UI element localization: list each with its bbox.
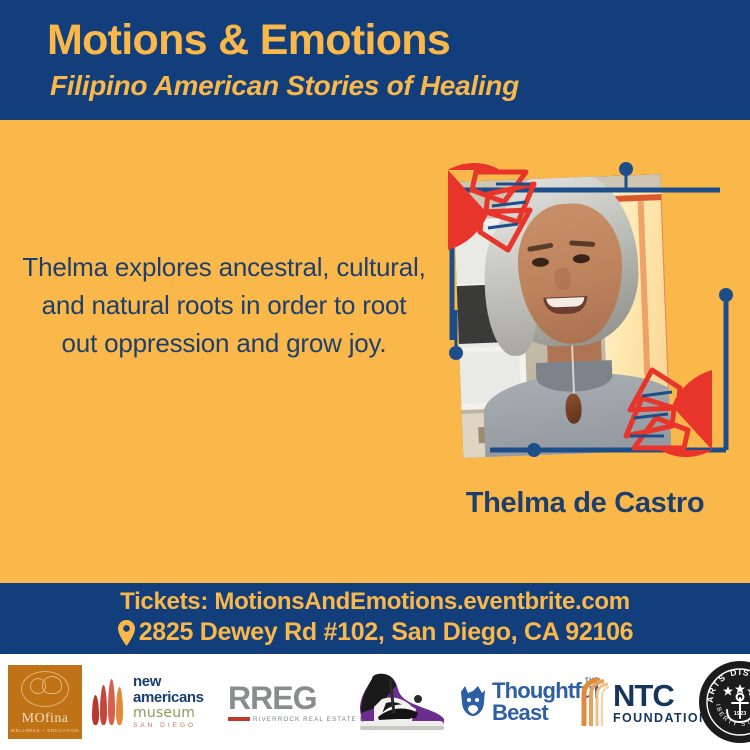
location-pin-icon xyxy=(117,620,136,646)
arts-district-seal-icon: ARTS DISTRICT LIBERTY STATION 1923 xyxy=(698,660,750,744)
speaker-blurb: Thelma explores ancestral, cultural, and… xyxy=(22,248,426,363)
portrait-block xyxy=(430,150,730,510)
ntc-subtext: FOUNDATION xyxy=(613,712,709,725)
sunburst-ornament-topleft xyxy=(448,163,534,250)
page-subtitle: Filipino American Stories of Healing xyxy=(50,70,519,102)
logo-thoughtful-beast[interactable]: THE Thoughtful Beast xyxy=(458,674,578,730)
ticket-band: Tickets: MotionsAndEmotions.eventbrite.c… xyxy=(0,583,750,654)
sunburst-ornament-bottomright xyxy=(626,370,712,457)
page-title: Motions & Emotions xyxy=(47,18,450,63)
speaker-name: Thelma de Castro xyxy=(440,486,730,521)
beast-icon xyxy=(458,686,488,718)
mofina-wordmark: MOfina xyxy=(22,711,69,727)
mofina-emblem-icon xyxy=(21,671,69,707)
tickets-link[interactable]: Tickets: MotionsAndEmotions.eventbrite.c… xyxy=(0,588,750,616)
poster: Motions & Emotions Filipino American Sto… xyxy=(0,0,750,750)
ntc-wordmark: NTC xyxy=(613,680,709,711)
photo-frame-decoration xyxy=(430,150,730,510)
logo-new-americans-museum[interactable]: new americans museum SAN DIEGO xyxy=(92,672,220,732)
nam-line2: americans xyxy=(133,690,204,705)
tb-line2: Beast xyxy=(492,700,548,725)
logo-mofina[interactable]: MOfina WELLNESS + EDUCATION xyxy=(8,665,82,739)
flames-icon xyxy=(92,679,128,725)
logo-arts-district-liberty-station[interactable]: ARTS DISTRICT LIBERTY STATION 1923 xyxy=(698,660,750,744)
rreg-bar-icon xyxy=(228,717,250,721)
sneaker-icon xyxy=(352,669,452,735)
ntc-arcs-icon xyxy=(580,678,610,726)
address-text: 2825 Dewey Rd #102, San Diego, CA 92106 xyxy=(139,618,634,647)
logo-sneaker[interactable] xyxy=(352,669,452,735)
nam-line4: SAN DIEGO xyxy=(133,723,204,730)
seal-year: 1923 xyxy=(734,711,746,717)
sponsor-logo-strip: MOfina WELLNESS + EDUCATION new american… xyxy=(0,654,750,750)
mofina-tagline: WELLNESS + EDUCATION xyxy=(11,728,79,733)
nam-line3: museum xyxy=(133,706,204,720)
logo-ntc-foundation[interactable]: NTC FOUNDATION xyxy=(580,674,696,730)
rreg-wordmark: RREG xyxy=(228,682,348,714)
header-band: Motions & Emotions Filipino American Sto… xyxy=(0,0,750,120)
nam-line1: new xyxy=(133,674,204,689)
venue-address: 2825 Dewey Rd #102, San Diego, CA 92106 xyxy=(0,618,750,647)
logo-rreg[interactable]: RREG RIVERROCK REAL ESTATE GROUP xyxy=(228,676,348,728)
